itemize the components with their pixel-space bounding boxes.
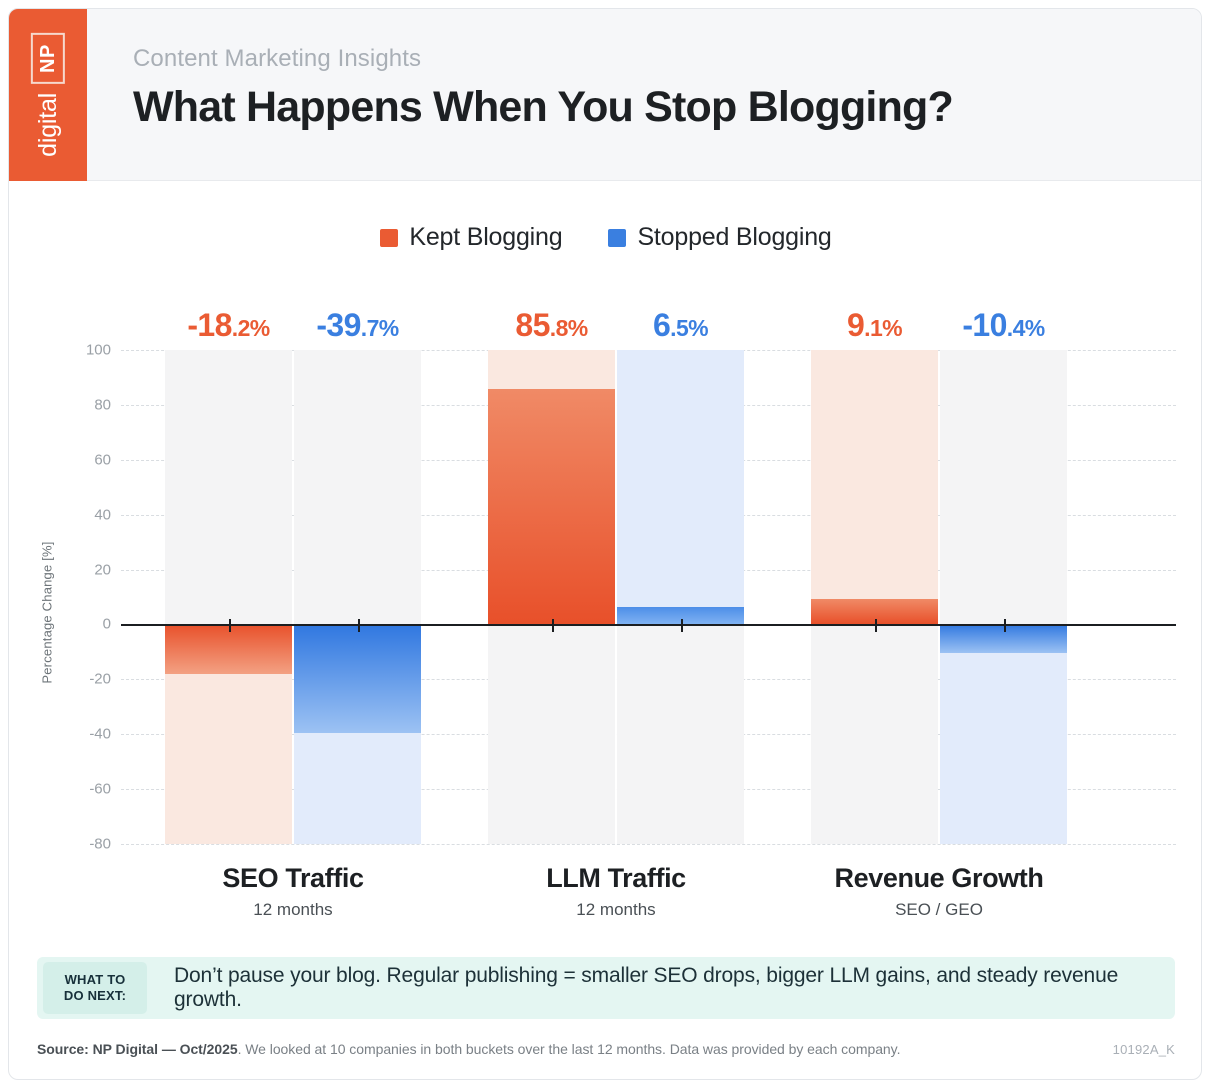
zero-baseline xyxy=(121,624,1176,626)
bar-track-tinted xyxy=(811,350,938,624)
baseline-tick xyxy=(681,619,683,632)
bar-kept-blogging-llm-traffic xyxy=(488,389,615,624)
bar-track-tinted xyxy=(617,350,744,624)
baseline-tick xyxy=(358,619,360,632)
value-int: -18 xyxy=(187,307,231,343)
category-label: Revenue Growth xyxy=(835,864,1044,894)
value-decimal: .5% xyxy=(670,315,708,341)
y-axis-tick-label: 80 xyxy=(67,396,111,413)
value-int: 9 xyxy=(847,307,864,343)
y-axis-tick-label: -40 xyxy=(67,726,111,743)
category-sublabel: 12 months xyxy=(222,900,363,920)
value-decimal: .8% xyxy=(550,315,588,341)
value-decimal: .4% xyxy=(1007,315,1045,341)
baseline-tick xyxy=(229,619,231,632)
y-axis-tick-label: 100 xyxy=(67,342,111,359)
callout-badge: WHAT TO DO NEXT: xyxy=(43,962,147,1014)
value-int: 6 xyxy=(653,307,670,343)
y-axis-tick-label: 40 xyxy=(67,506,111,523)
x-axis-category-group: Revenue GrowthSEO / GEO xyxy=(835,864,1044,920)
callout-badge-line2: DO NEXT: xyxy=(64,988,126,1004)
y-axis-tick-label: 20 xyxy=(67,561,111,578)
footer-source-note: Source: NP Digital — Oct/2025. We looked… xyxy=(37,1041,900,1057)
value-label: -10.4% xyxy=(962,307,1044,344)
baseline-tick xyxy=(1004,619,1006,632)
y-axis-tick-label: -20 xyxy=(67,671,111,688)
y-axis-tick-label: 60 xyxy=(67,451,111,468)
bar-track-neutral xyxy=(165,350,292,624)
x-axis-category-group: SEO Traffic12 months xyxy=(222,864,363,920)
value-label: 9.1% xyxy=(847,307,902,344)
bar-track-neutral xyxy=(488,624,615,844)
value-int: 85 xyxy=(515,307,549,343)
bar-track-neutral xyxy=(940,350,1067,624)
bar-track-tinted xyxy=(940,624,1067,844)
callout-badge-line1: WHAT TO xyxy=(65,972,126,988)
callout-text: Don’t pause your blog. Regular publishin… xyxy=(174,964,1175,1012)
bar-track-neutral xyxy=(294,350,421,624)
baseline-tick xyxy=(552,619,554,632)
x-axis-category-group: LLM Traffic12 months xyxy=(546,864,686,920)
y-axis-tick-label: 0 xyxy=(67,616,111,633)
gridline xyxy=(121,844,1176,845)
footer-source-bold: Source: NP Digital — Oct/2025 xyxy=(37,1041,238,1057)
value-label: -18.2% xyxy=(187,307,269,344)
footer-asset-code: 10192A_K xyxy=(1113,1042,1175,1057)
baseline-tick xyxy=(875,619,877,632)
chart-plot-area: Percentage Change [%] 100806040200-20-40… xyxy=(9,9,1202,1080)
bar-track-neutral xyxy=(811,624,938,844)
category-label: LLM Traffic xyxy=(546,864,686,894)
value-label: 85.8% xyxy=(515,307,587,344)
value-int: -39 xyxy=(316,307,360,343)
y-axis-tick-label: -60 xyxy=(67,781,111,798)
card-frame: digital NP Content Marketing Insights Wh… xyxy=(8,8,1202,1080)
bar-track-neutral xyxy=(617,624,744,844)
footer-source-rest: . We looked at 10 companies in both buck… xyxy=(238,1041,901,1057)
value-int: -10 xyxy=(962,307,1006,343)
value-decimal: .2% xyxy=(232,315,270,341)
y-axis-tick-label: -80 xyxy=(67,836,111,853)
category-label: SEO Traffic xyxy=(222,864,363,894)
value-decimal: .7% xyxy=(361,315,399,341)
value-label: 6.5% xyxy=(653,307,708,344)
category-sublabel: SEO / GEO xyxy=(835,900,1044,920)
footer: Source: NP Digital — Oct/2025. We looked… xyxy=(37,1041,1175,1057)
y-axis-title: Percentage Change [%] xyxy=(40,513,55,713)
value-label: -39.7% xyxy=(316,307,398,344)
value-decimal: .1% xyxy=(864,315,902,341)
what-to-do-next-callout: WHAT TO DO NEXT: Don’t pause your blog. … xyxy=(37,957,1175,1019)
infographic-root: digital NP Content Marketing Insights Wh… xyxy=(0,0,1210,1088)
bar-stopped-blogging-seo-traffic xyxy=(294,624,421,733)
category-sublabel: 12 months xyxy=(546,900,686,920)
